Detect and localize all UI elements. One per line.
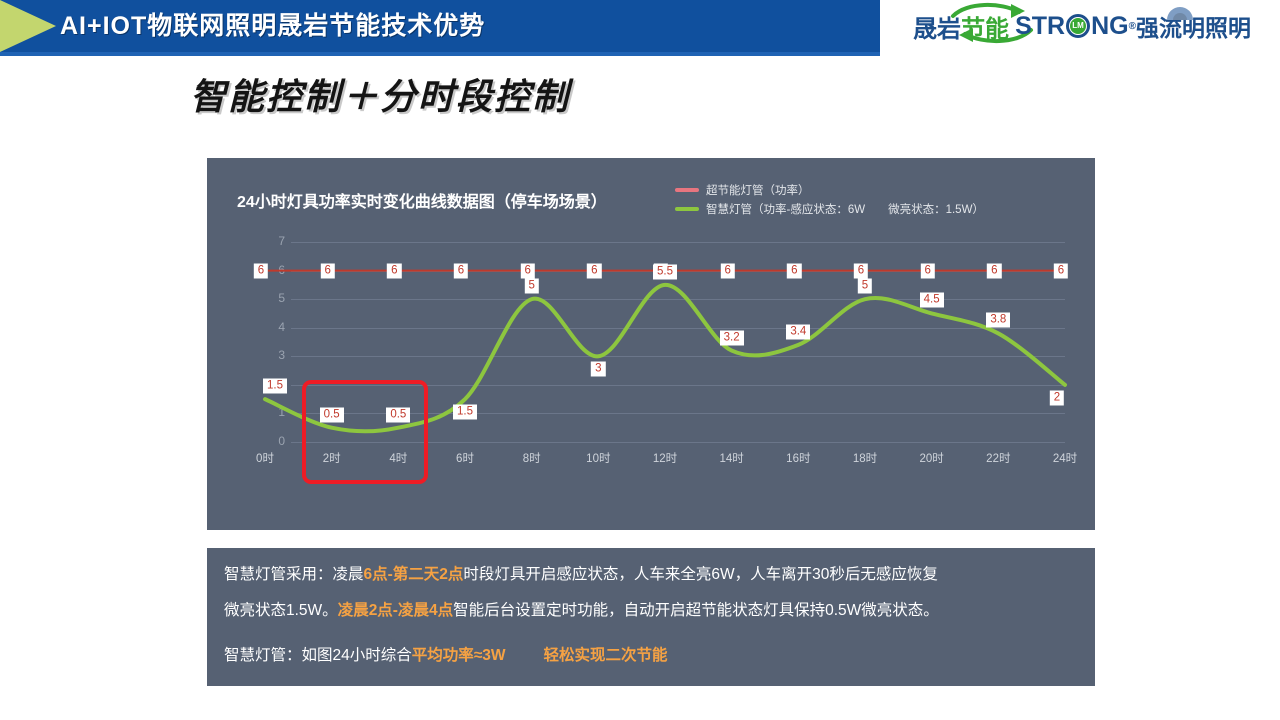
chart-legend: 超节能灯管（功率）智慧灯管（功率-感应状态：6W 微亮状态：1.5W）	[675, 180, 984, 218]
chart-point-label: 6	[520, 263, 534, 278]
note-l1-highlight: 6点-第二天2点	[364, 566, 464, 583]
note-line-3: 智慧灯管：如图24小时综合平均功率≈3W轻松实现二次节能	[224, 643, 668, 665]
chart-point-label: 1.5	[453, 405, 477, 420]
legend-swatch-icon	[675, 207, 699, 211]
legend-swatch-icon	[675, 188, 699, 192]
logo-english: STR LM NG ® 强流明照明	[1015, 9, 1251, 43]
chart-point-label: 6	[320, 263, 334, 278]
chart-point-label: 4.5	[920, 293, 944, 308]
chart-point-label: 6	[254, 263, 268, 278]
logo-wrap: 晟岩节能 STR LM NG ® 强流明照明	[913, 9, 1251, 44]
chart-point-label: 3	[591, 362, 605, 377]
x-axis-tick-label: 24时	[1053, 450, 1077, 466]
chart-point-label: 3.4	[786, 324, 810, 339]
chart-point-label: 6	[720, 263, 734, 278]
header-underline	[0, 52, 880, 56]
x-axis-tick-label: 12时	[653, 450, 677, 466]
note-l3-highlight-1: 平均功率≈3W	[412, 647, 506, 664]
note-panel: 智慧灯管采用：凌晨6点-第二天2点时段灯具开启感应状态，人车来全亮6W，人车离开…	[207, 548, 1095, 686]
chart-title: 24小时灯具功率实时变化曲线数据图（停车场场景）	[237, 188, 607, 212]
x-axis-tick-label: 6时	[456, 450, 474, 466]
note-l1-seg1: 智慧灯管采用：凌晨	[224, 566, 364, 583]
legend-label: 智慧灯管（功率-感应状态：6W 微亮状态：1.5W）	[706, 201, 984, 217]
legend-item: 超节能灯管（功率）	[675, 180, 984, 199]
note-line-1: 智慧灯管采用：凌晨6点-第二天2点时段灯具开启感应状态，人车来全亮6W，人车离开…	[224, 562, 938, 584]
chart-point-label: 2	[1050, 390, 1064, 405]
chart-point-label: 6	[920, 263, 934, 278]
chart-point-label: 6	[1054, 263, 1068, 278]
note-l2-seg1: 微亮状态1.5W。	[224, 602, 338, 619]
x-axis-tick-label: 18时	[853, 450, 877, 466]
note-l2-highlight: 凌晨2点-凌晨4点	[338, 602, 453, 619]
x-axis-tick-label: 0时	[256, 450, 274, 466]
slide-header: AI+IOT物联网照明晟岩节能技术优势 晟岩节能 STR LM	[0, 0, 1280, 52]
note-l2-seg2: 智能后台设置定时功能，自动开启超节能状态灯具保持0.5W微亮状态。	[453, 602, 939, 619]
x-axis-tick-label: 20时	[920, 450, 944, 466]
highlight-box-annotation	[302, 380, 429, 484]
x-axis-tick-label: 8时	[523, 450, 541, 466]
chart-point-label: 3.8	[986, 313, 1010, 328]
logo-en-prefix: STR	[1015, 12, 1065, 41]
fan-arc-icon	[1165, 5, 1195, 21]
chart-point-label: 6	[587, 263, 601, 278]
x-axis-tick-label: 22时	[986, 450, 1010, 466]
note-l1-seg2: 时段灯具开启感应状态，人车来全亮6W，人车离开30秒后无感应恢复	[463, 566, 938, 583]
page-title: 智能控制＋分时段控制	[190, 68, 570, 120]
note-l3-seg1: 智慧灯管：如图24小时综合	[224, 647, 412, 664]
logo-lm-mark: LM	[1070, 18, 1086, 34]
chart-point-label: 5	[858, 279, 872, 294]
chart-point-label: 6	[854, 263, 868, 278]
logo-cn-part2: 节能	[961, 16, 1009, 43]
x-axis-tick-label: 10时	[586, 450, 610, 466]
logo-en-suffix: NG	[1091, 12, 1129, 41]
chart-point-label: 6	[787, 263, 801, 278]
brand-logo: 晟岩节能 STR LM NG ® 强流明照明	[884, 0, 1280, 52]
chart-point-label: 5.5	[653, 264, 677, 279]
chart-point-label: 6	[454, 263, 468, 278]
legend-item: 智慧灯管（功率-感应状态：6W 微亮状态：1.5W）	[675, 199, 984, 218]
logo-ring-icon: LM	[1066, 14, 1090, 38]
header-title: AI+IOT物联网照明晟岩节能技术优势	[60, 0, 485, 52]
chart-panel: 24小时灯具功率实时变化曲线数据图（停车场场景） 超节能灯管（功率）智慧灯管（功…	[207, 158, 1095, 530]
registered-mark: ®	[1129, 21, 1136, 32]
chart-point-label: 3.2	[720, 330, 744, 345]
chart-point-label: 6	[387, 263, 401, 278]
logo-cn-part1: 晟岩	[913, 16, 961, 43]
x-axis-tick-label: 14时	[720, 450, 744, 466]
note-line-2: 微亮状态1.5W。凌晨2点-凌晨4点智能后台设置定时功能，自动开启超节能状态灯具…	[224, 598, 939, 620]
logo-chinese: 晟岩节能	[913, 9, 1009, 44]
x-axis-tick-label: 16时	[786, 450, 810, 466]
chart-point-label: 6	[987, 263, 1001, 278]
slide-root: AI+IOT物联网照明晟岩节能技术优势 晟岩节能 STR LM	[0, 0, 1280, 720]
chart-point-label: 5	[524, 279, 538, 294]
note-l3-highlight-2: 轻松实现二次节能	[544, 647, 668, 664]
chart-point-label: 1.5	[263, 379, 287, 394]
legend-label: 超节能灯管（功率）	[706, 182, 810, 198]
